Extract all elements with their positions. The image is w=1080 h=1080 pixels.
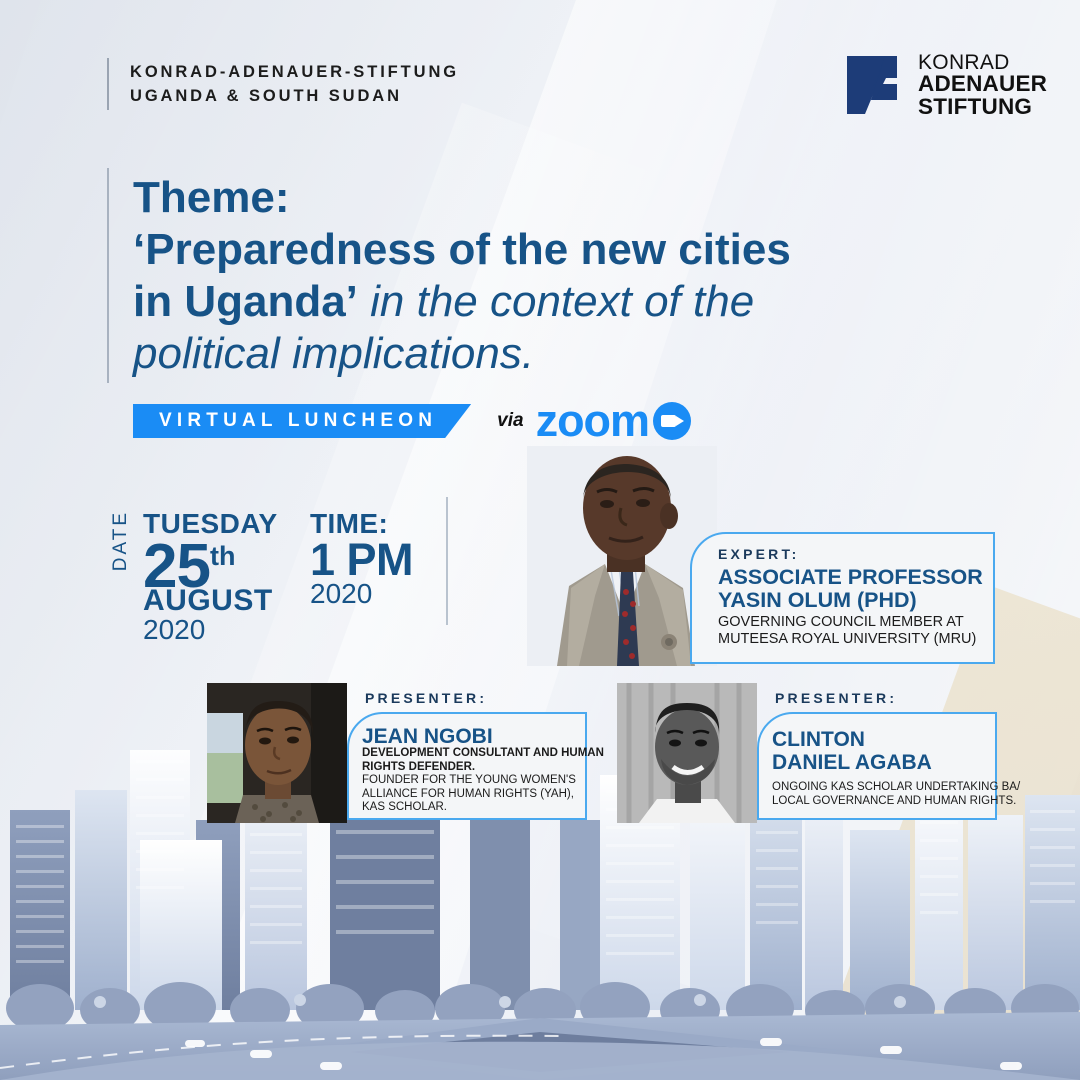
theme-italic-line2: in the context of the	[358, 277, 754, 326]
logo-line-adenauer: ADENAUER	[918, 73, 1047, 96]
speaker-desc-expert: GOVERNING COUNCIL MEMBER AT MUTEESA ROYA…	[718, 614, 976, 648]
speaker-desc-presenter-1: FOUNDER FOR THE YOUNG WOMEN'S ALLIANCE F…	[362, 774, 576, 815]
speaker-name-presenter-2: CLINTON DANIEL AGABA	[772, 728, 932, 774]
theme-italic-line3: political implications.	[133, 329, 534, 378]
event-poster: KONRAD-ADENAUER-STIFTUNG UGANDA & SOUTH …	[0, 0, 1080, 1080]
avatar-yasin-olum	[527, 446, 717, 666]
zoom-wordmark: zoom	[536, 404, 650, 438]
virtual-luncheon-banner: VIRTUAL LUNCHEON via zoom	[133, 404, 691, 438]
organization-name: KONRAD-ADENAUER-STIFTUNG UGANDA & SOUTH …	[130, 60, 459, 108]
speaker-name-expert: ASSOCIATE PROFESSOR YASIN OLUM (PHD)	[718, 566, 983, 612]
date-label: DATE	[110, 510, 132, 571]
speaker-subtitle-presenter-1: DEVELOPMENT CONSULTANT AND HUMAN RIGHTS …	[362, 747, 604, 774]
kas-logo-text: KONRAD ADENAUER STIFTUNG	[918, 52, 1047, 118]
day-suffix: th	[210, 541, 235, 571]
speaker-role-presenter-2: PRESENTER:	[775, 690, 897, 706]
logo-line-stiftung: STIFTUNG	[918, 96, 1047, 119]
kas-logo: KONRAD ADENAUER STIFTUNG	[845, 52, 1047, 118]
avatar-jean-ngobi	[207, 683, 347, 823]
kas-logo-mark	[845, 54, 907, 116]
header-divider	[107, 58, 109, 110]
speaker-desc-presenter-2: ONGOING KAS SCHOLAR UNDERTAKING BA/ LOCA…	[772, 781, 1020, 808]
theme-label: Theme:	[133, 172, 913, 224]
speaker-name-presenter-1: JEAN NGOBI	[362, 726, 493, 748]
banner-label: VIRTUAL LUNCHEON	[133, 404, 471, 438]
event-month: AUGUST	[143, 584, 273, 618]
datetime-divider	[446, 497, 448, 625]
speaker-role-expert: EXPERT:	[718, 546, 800, 562]
avatar-clinton-daniel-agaba	[617, 683, 757, 823]
video-camera-icon	[653, 402, 691, 440]
theme-quoted-line1: ‘Preparedness of the new cities	[133, 225, 791, 274]
via-label: via	[497, 410, 523, 432]
logo-line-konrad: KONRAD	[918, 52, 1047, 73]
theme-divider	[107, 168, 109, 383]
speaker-role-presenter-1: PRESENTER:	[365, 690, 487, 706]
theme-quoted-line2: in Uganda’	[133, 277, 358, 326]
theme-text: Theme: ‘Preparedness of the new cities i…	[133, 172, 913, 380]
event-time-year: 2020	[310, 578, 372, 610]
event-date-year: 2020	[143, 614, 205, 646]
